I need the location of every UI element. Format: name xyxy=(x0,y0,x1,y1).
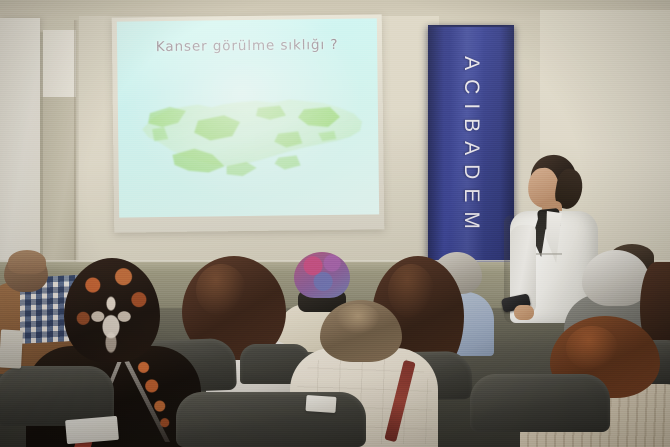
projected-slide: Kanser görülme sıklığı ? xyxy=(117,18,379,217)
turkey-map-graphic xyxy=(128,81,369,189)
paper-sheet xyxy=(0,329,23,368)
hair-highlight xyxy=(196,264,246,316)
chair-back xyxy=(176,392,366,447)
slide-title: Kanser görülme sıklığı ? xyxy=(117,36,377,55)
chair-back xyxy=(470,374,610,432)
wall-pillar-edge xyxy=(74,20,79,285)
paper-sheet xyxy=(305,395,336,413)
banner-fold-left xyxy=(428,27,444,267)
paper-sheet xyxy=(65,416,119,444)
wall-pillar-white xyxy=(0,18,40,283)
headscarf-damask-motif xyxy=(78,282,144,354)
hair-highlight xyxy=(336,304,380,334)
banner-text: ACIBADEM xyxy=(459,56,483,238)
presenter-hand xyxy=(514,305,534,320)
presentation-photo: Kanser görülme sıklığı ? xyxy=(0,0,670,447)
hair-highlight xyxy=(566,326,618,370)
wall-pillar-seam xyxy=(40,32,43,284)
garment-embroidery xyxy=(120,351,184,436)
pink-purple-headscarf xyxy=(294,252,350,298)
